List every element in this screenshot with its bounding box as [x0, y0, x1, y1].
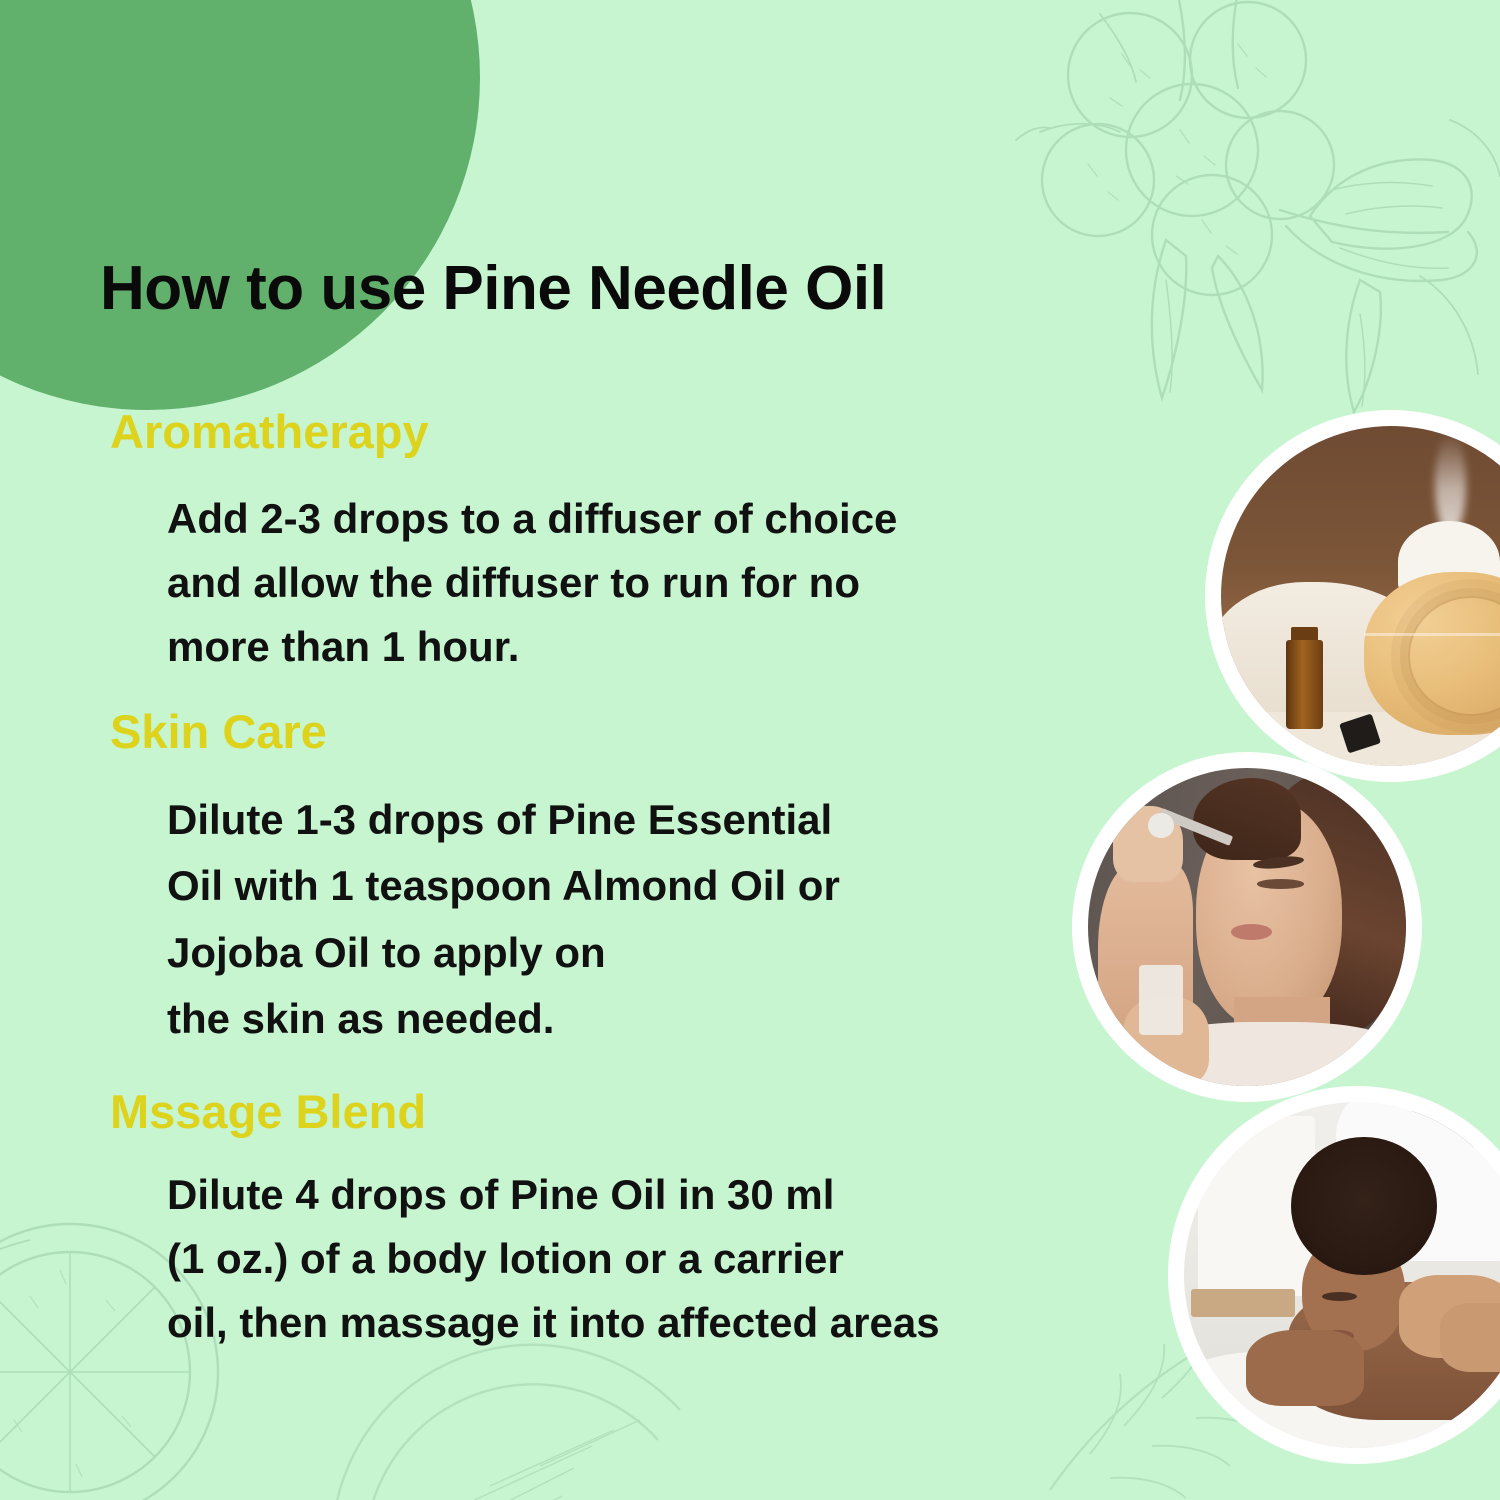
section-heading-massage-blend: Mssage Blend	[110, 1088, 426, 1135]
therapist-hand-second	[1440, 1303, 1500, 1372]
massage-therapy-photo	[1168, 1086, 1500, 1464]
amber-oil-bottle	[1286, 640, 1323, 728]
photo-clip	[1184, 1102, 1500, 1448]
section-heading-aromatherapy: Aromatherapy	[110, 408, 429, 455]
client-arm	[1246, 1330, 1364, 1406]
body-line: Add 2-3 drops to a diffuser of choice	[167, 487, 897, 551]
photo-clip	[1088, 768, 1406, 1086]
massage-scene	[1184, 1102, 1500, 1448]
curly-hair-bun	[1291, 1137, 1436, 1275]
body-line: more than 1 hour.	[167, 615, 897, 679]
body-line: and allow the diffuser to run for no	[167, 551, 897, 615]
skincare-serum-dropper-photo	[1072, 752, 1422, 1102]
section-body-aromatherapy: Add 2-3 drops to a diffuser of choice an…	[167, 487, 897, 678]
body-line: Dilute 4 drops of Pine Oil in 30 ml	[167, 1163, 940, 1227]
skincare-scene	[1088, 768, 1406, 1086]
body-line: the skin as needed.	[167, 986, 840, 1052]
diffuser-scene	[1221, 426, 1500, 766]
wooden-shelf	[1191, 1289, 1295, 1317]
section-body-massage-blend: Dilute 4 drops of Pine Oil in 30 ml (1 o…	[167, 1163, 940, 1354]
closed-eye	[1257, 879, 1305, 889]
body-line: oil, then massage it into affected areas	[167, 1291, 940, 1355]
body-line: (1 oz.) of a body lotion or a carrier	[167, 1227, 940, 1291]
dropper-bulb	[1148, 813, 1173, 838]
body-line: Dilute 1-3 drops of Pine Essential	[167, 787, 840, 853]
photo-clip	[1221, 426, 1500, 766]
steam-plume	[1435, 433, 1466, 535]
infographic-canvas: How to use Pine Needle Oil Aromatherapy …	[0, 0, 1500, 1500]
serum-bottle	[1139, 965, 1184, 1035]
body-line: Jojoba Oil to apply on	[167, 920, 840, 986]
diffuser-seam	[1364, 633, 1500, 636]
lips	[1231, 924, 1272, 940]
accent-circle-shape	[0, 0, 480, 410]
section-heading-skin-care: Skin Care	[110, 708, 327, 755]
page-title: How to use Pine Needle Oil	[100, 258, 886, 320]
botanical-berries-line-art-icon	[980, 0, 1500, 450]
aromatherapy-diffuser-photo	[1205, 410, 1500, 782]
body-line: Oil with 1 teaspoon Almond Oil or	[167, 853, 840, 919]
section-body-skin-care: Dilute 1-3 drops of Pine Essential Oil w…	[167, 787, 840, 1052]
